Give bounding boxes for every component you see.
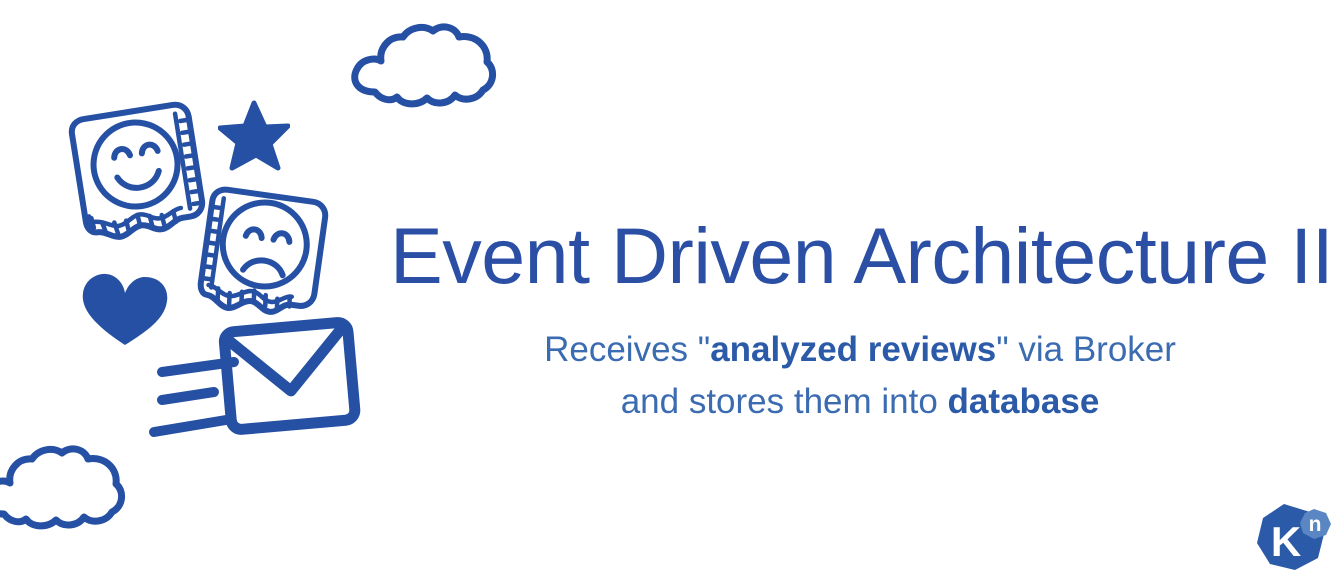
cloud-top-icon xyxy=(345,22,497,110)
cloud-bottom-left-icon xyxy=(0,438,126,538)
page-subtitle: Receives "analyzed reviews" via Broker a… xyxy=(390,324,1330,428)
subtitle-line-2-prefix: and stores them into xyxy=(621,382,948,421)
subtitle-line-1-emphasis: analyzed reviews xyxy=(710,330,996,369)
subtitle-line-1-prefix: Receives " xyxy=(544,330,710,369)
subtitle-line-2: and stores them into database xyxy=(390,376,1330,428)
subtitle-line-1: Receives "analyzed reviews" via Broker xyxy=(390,324,1330,376)
flying-envelope-icon xyxy=(148,312,363,452)
title-block: Event Driven Architecture II Receives "a… xyxy=(390,215,1330,428)
heart-icon xyxy=(79,269,171,349)
subtitle-line-2-emphasis: database xyxy=(948,382,1100,421)
knative-logo: K n xyxy=(1248,498,1334,578)
happy-review-card-icon xyxy=(58,98,223,263)
logo-badge-letter: n xyxy=(1309,513,1322,536)
star-icon xyxy=(218,100,290,176)
sad-review-card-icon xyxy=(178,182,343,347)
slide-canvas: Event Driven Architecture II Receives "a… xyxy=(0,0,1341,585)
page-title: Event Driven Architecture II xyxy=(390,215,1330,298)
logo-primary-letter: K xyxy=(1271,518,1301,565)
subtitle-line-1-suffix: " via Broker xyxy=(996,330,1176,369)
